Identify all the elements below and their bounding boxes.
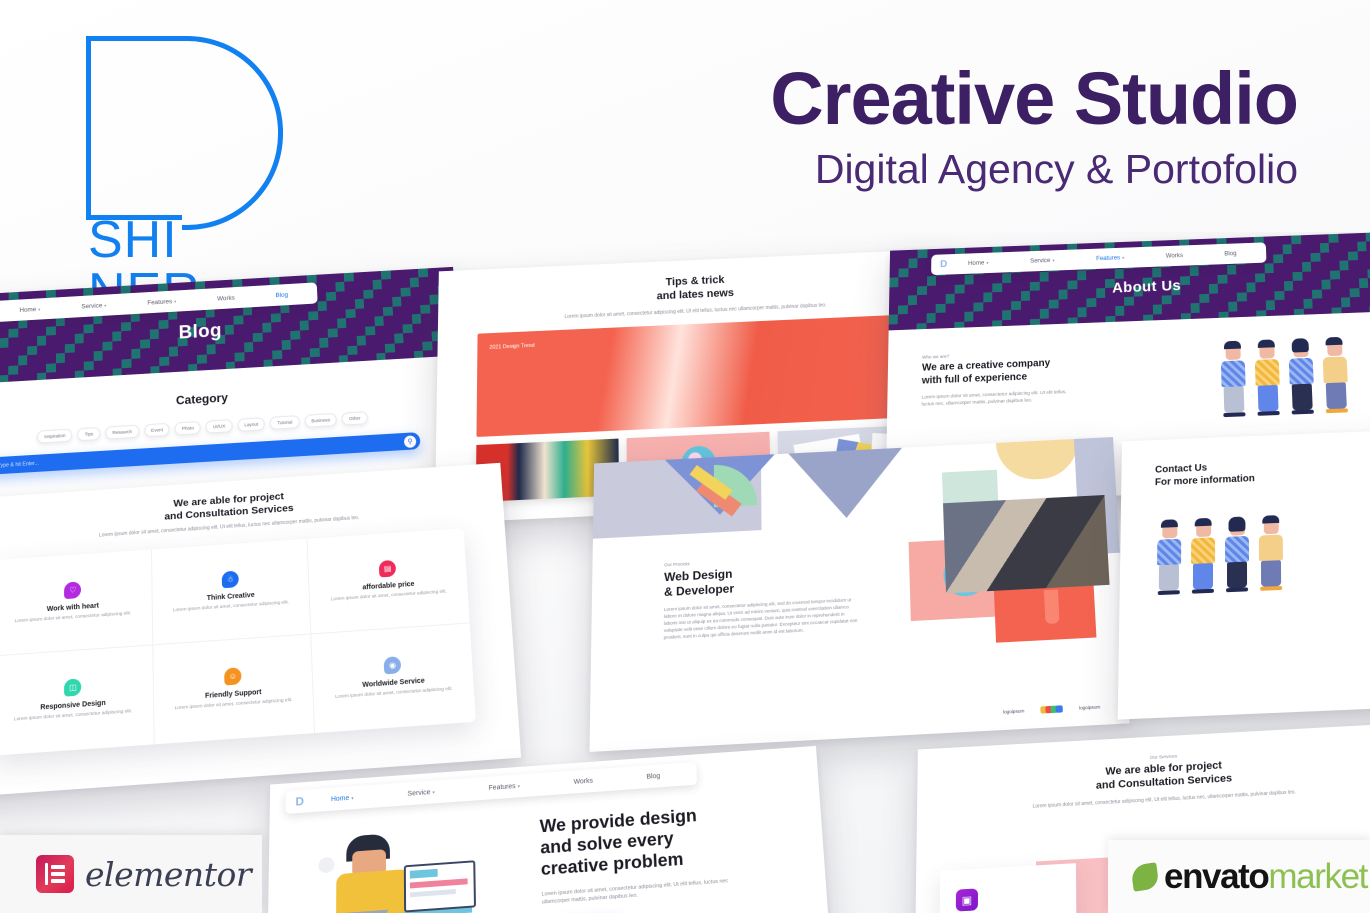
nav-item-home[interactable]: Home▾ (968, 259, 989, 267)
pill-other[interactable]: Other (342, 411, 368, 425)
service-card-friendly-support[interactable]: ☺ Friendly Support Lorem ipsum dolor sit… (153, 634, 315, 744)
service-card-responsive-design[interactable]: ◫ Responsive Design Lorem ipsum dolor si… (0, 645, 154, 755)
service-card-title: affordable price (362, 581, 414, 591)
service-card-work-with-heart[interactable]: ♡ Work with heart Lorem ipsum dolor sit … (0, 549, 153, 656)
service-card-think-creative[interactable]: ☃ Think Creative Lorem ipsum dolor sit a… (152, 539, 312, 646)
nav-item-features[interactable]: Features▾ (489, 782, 521, 791)
pill-layout[interactable]: Layout (237, 417, 265, 432)
chevron-down-icon: ▾ (432, 789, 435, 795)
person-2 (1251, 341, 1284, 416)
chevron-down-icon: ▾ (104, 303, 106, 308)
service-card-body: Lorem ipsum dolor sit amet, consectetur … (173, 600, 289, 615)
about-header-title: About Us (1112, 277, 1181, 296)
service-card-body: Lorem ipsum dolor sit amet, consectetur … (14, 709, 132, 724)
person-2 (1188, 520, 1218, 594)
page-subtitle: Digital Agency & Portofolio (770, 144, 1298, 194)
search-input[interactable]: Type & hit Enter... (0, 460, 39, 469)
elementor-badge: elementor (0, 835, 262, 913)
nav-item-works[interactable]: Works (217, 294, 235, 302)
navbar-logo-icon: D (940, 259, 947, 270)
thumbs-up-icon: ☺ (224, 667, 242, 685)
search-icon[interactable]: ⚲ (404, 435, 417, 448)
nav-item-blog[interactable]: Blog (275, 291, 288, 298)
pill-photo[interactable]: Photo (175, 421, 201, 436)
chevron-down-icon: ▾ (986, 260, 988, 265)
process-title: Web Design & Developer (664, 560, 862, 600)
service-card-affordable-price[interactable]: ▤ affordable price Lorem ipsum dolor sit… (308, 528, 470, 634)
elementor-label: elementor (85, 855, 251, 894)
nav-item-home[interactable]: Home▾ (331, 794, 354, 802)
slide-mockup-stage: D Home▾ Service▾ Features▾ Works Blog Bl… (0, 232, 1370, 913)
hero-title: We provide design and solve every creati… (539, 800, 784, 881)
bulb-icon: ☃ (222, 570, 239, 588)
page-title: Creative Studio (770, 56, 1298, 142)
service-card-body: Lorem ipsum dolor sit amet, consectetur … (335, 687, 453, 702)
service-card-title: Worldwide Service (362, 678, 425, 689)
person-1 (1217, 342, 1249, 417)
chevron-down-icon: ▾ (174, 299, 176, 304)
envato-badge: envatomarket (1108, 840, 1370, 913)
envato-leaf-icon (1130, 862, 1159, 891)
slide-hero[interactable]: D Home▾ Service▾ Features▾ Works Blog (265, 746, 837, 913)
title-block: Creative Studio Digital Agency & Portofo… (770, 56, 1298, 194)
process-photo (943, 495, 1110, 593)
nav-item-service[interactable]: Service▾ (408, 789, 435, 798)
envato-label-green: market (1268, 857, 1367, 896)
tips-feature-card[interactable]: 2021 Design Trend (476, 314, 918, 437)
slide-contact[interactable]: Contact Us For more information (1118, 423, 1370, 720)
nav-item-features[interactable]: Features▾ (147, 298, 176, 306)
heart-icon: ♡ (64, 581, 81, 599)
nav-item-blog[interactable]: Blog (1224, 250, 1236, 257)
chevron-down-icon: ▾ (1052, 258, 1054, 263)
pill-tips[interactable]: Tips (78, 427, 101, 441)
tips-feature-label: 2021 Design Trend (489, 343, 534, 351)
nav-item-service[interactable]: Service▾ (1030, 257, 1055, 265)
nav-item-blog[interactable]: Blog (646, 773, 660, 781)
person-4 (1319, 339, 1352, 414)
chevron-down-icon: ▾ (1122, 255, 1124, 260)
envato-label: envatomarket (1164, 857, 1367, 897)
service-card-worldwide-service[interactable]: ◉ Worldwide Service Lorem ipsum dolor si… (312, 623, 476, 733)
services-card-grid[interactable]: ♡ Work with heart Lorem ipsum dolor sit … (0, 528, 476, 756)
hero-illustration (303, 818, 536, 913)
service-card-body: Lorem ipsum dolor sit amet, consectetur … (175, 698, 293, 713)
service-card-title: Responsive Design (40, 700, 105, 712)
contact-people-illustration (1154, 512, 1370, 596)
client-logo-1: logoipsum (1003, 708, 1024, 714)
pill-research[interactable]: Research (105, 425, 139, 440)
service-card-title: Work with heart (47, 602, 99, 612)
elementor-icon (36, 855, 74, 893)
client-logo-3: logoipsum (1079, 704, 1101, 710)
chevron-down-icon: ▾ (351, 795, 354, 801)
nav-item-works[interactable]: Works (574, 777, 593, 785)
person-1 (1154, 521, 1185, 595)
globe-icon: ◉ (384, 656, 402, 674)
pill-tutorial[interactable]: Tutorial (270, 415, 300, 430)
navbar-logo-icon: D (295, 794, 304, 808)
slide-process[interactable]: Our Process Web Design & Developer Lorem… (589, 437, 1129, 752)
pill-event[interactable]: Event (144, 423, 170, 438)
about-people-illustration (1217, 339, 1352, 418)
nav-item-features[interactable]: Features▾ (1096, 254, 1124, 262)
logo-card-icon: ▣ (956, 888, 978, 911)
blog-header-title: Blog (178, 321, 222, 345)
service-card-body: Lorem ipsum dolor sit amet, consectetur … (331, 589, 447, 604)
person-3 (1285, 340, 1318, 415)
person-4 (1256, 517, 1286, 591)
about-body: Lorem ipsum dolor sit amet, consectetur … (921, 389, 1072, 409)
person-3 (1222, 518, 1252, 592)
tag-icon: ▤ (379, 560, 397, 578)
nav-item-service[interactable]: Service▾ (81, 302, 106, 310)
pill-business[interactable]: Business (304, 413, 337, 428)
hero-body: Lorem ipsum dolor sit amet, consectetur … (541, 877, 736, 907)
contact-title: Contact Us For more information (1155, 455, 1370, 490)
service-card-body: Lorem ipsum dolor sit amet, consectetur … (15, 611, 132, 626)
pill-inspiration[interactable]: Inspiration (37, 429, 72, 444)
device-icon: ◫ (64, 679, 81, 697)
client-logo-2 (1040, 705, 1063, 713)
nav-item-works[interactable]: Works (1166, 252, 1183, 259)
logo-d-letter (86, 36, 182, 220)
service-card-title: Friendly Support (205, 689, 262, 700)
nav-item-home[interactable]: Home▾ (19, 306, 40, 314)
chevron-down-icon: ▾ (518, 783, 521, 789)
service-card-title: Think Creative (207, 592, 255, 602)
our-services-logo-card[interactable]: ▣ Logo Lorem ipsum dolor sit amet, conse… (939, 863, 1077, 913)
chevron-down-icon: ▾ (38, 306, 40, 311)
slide-services-grid[interactable]: We are able for project and Consultation… (0, 463, 521, 798)
pill-uiux[interactable]: UI/UX (206, 419, 233, 434)
envato-label-dark: envato (1164, 857, 1268, 896)
